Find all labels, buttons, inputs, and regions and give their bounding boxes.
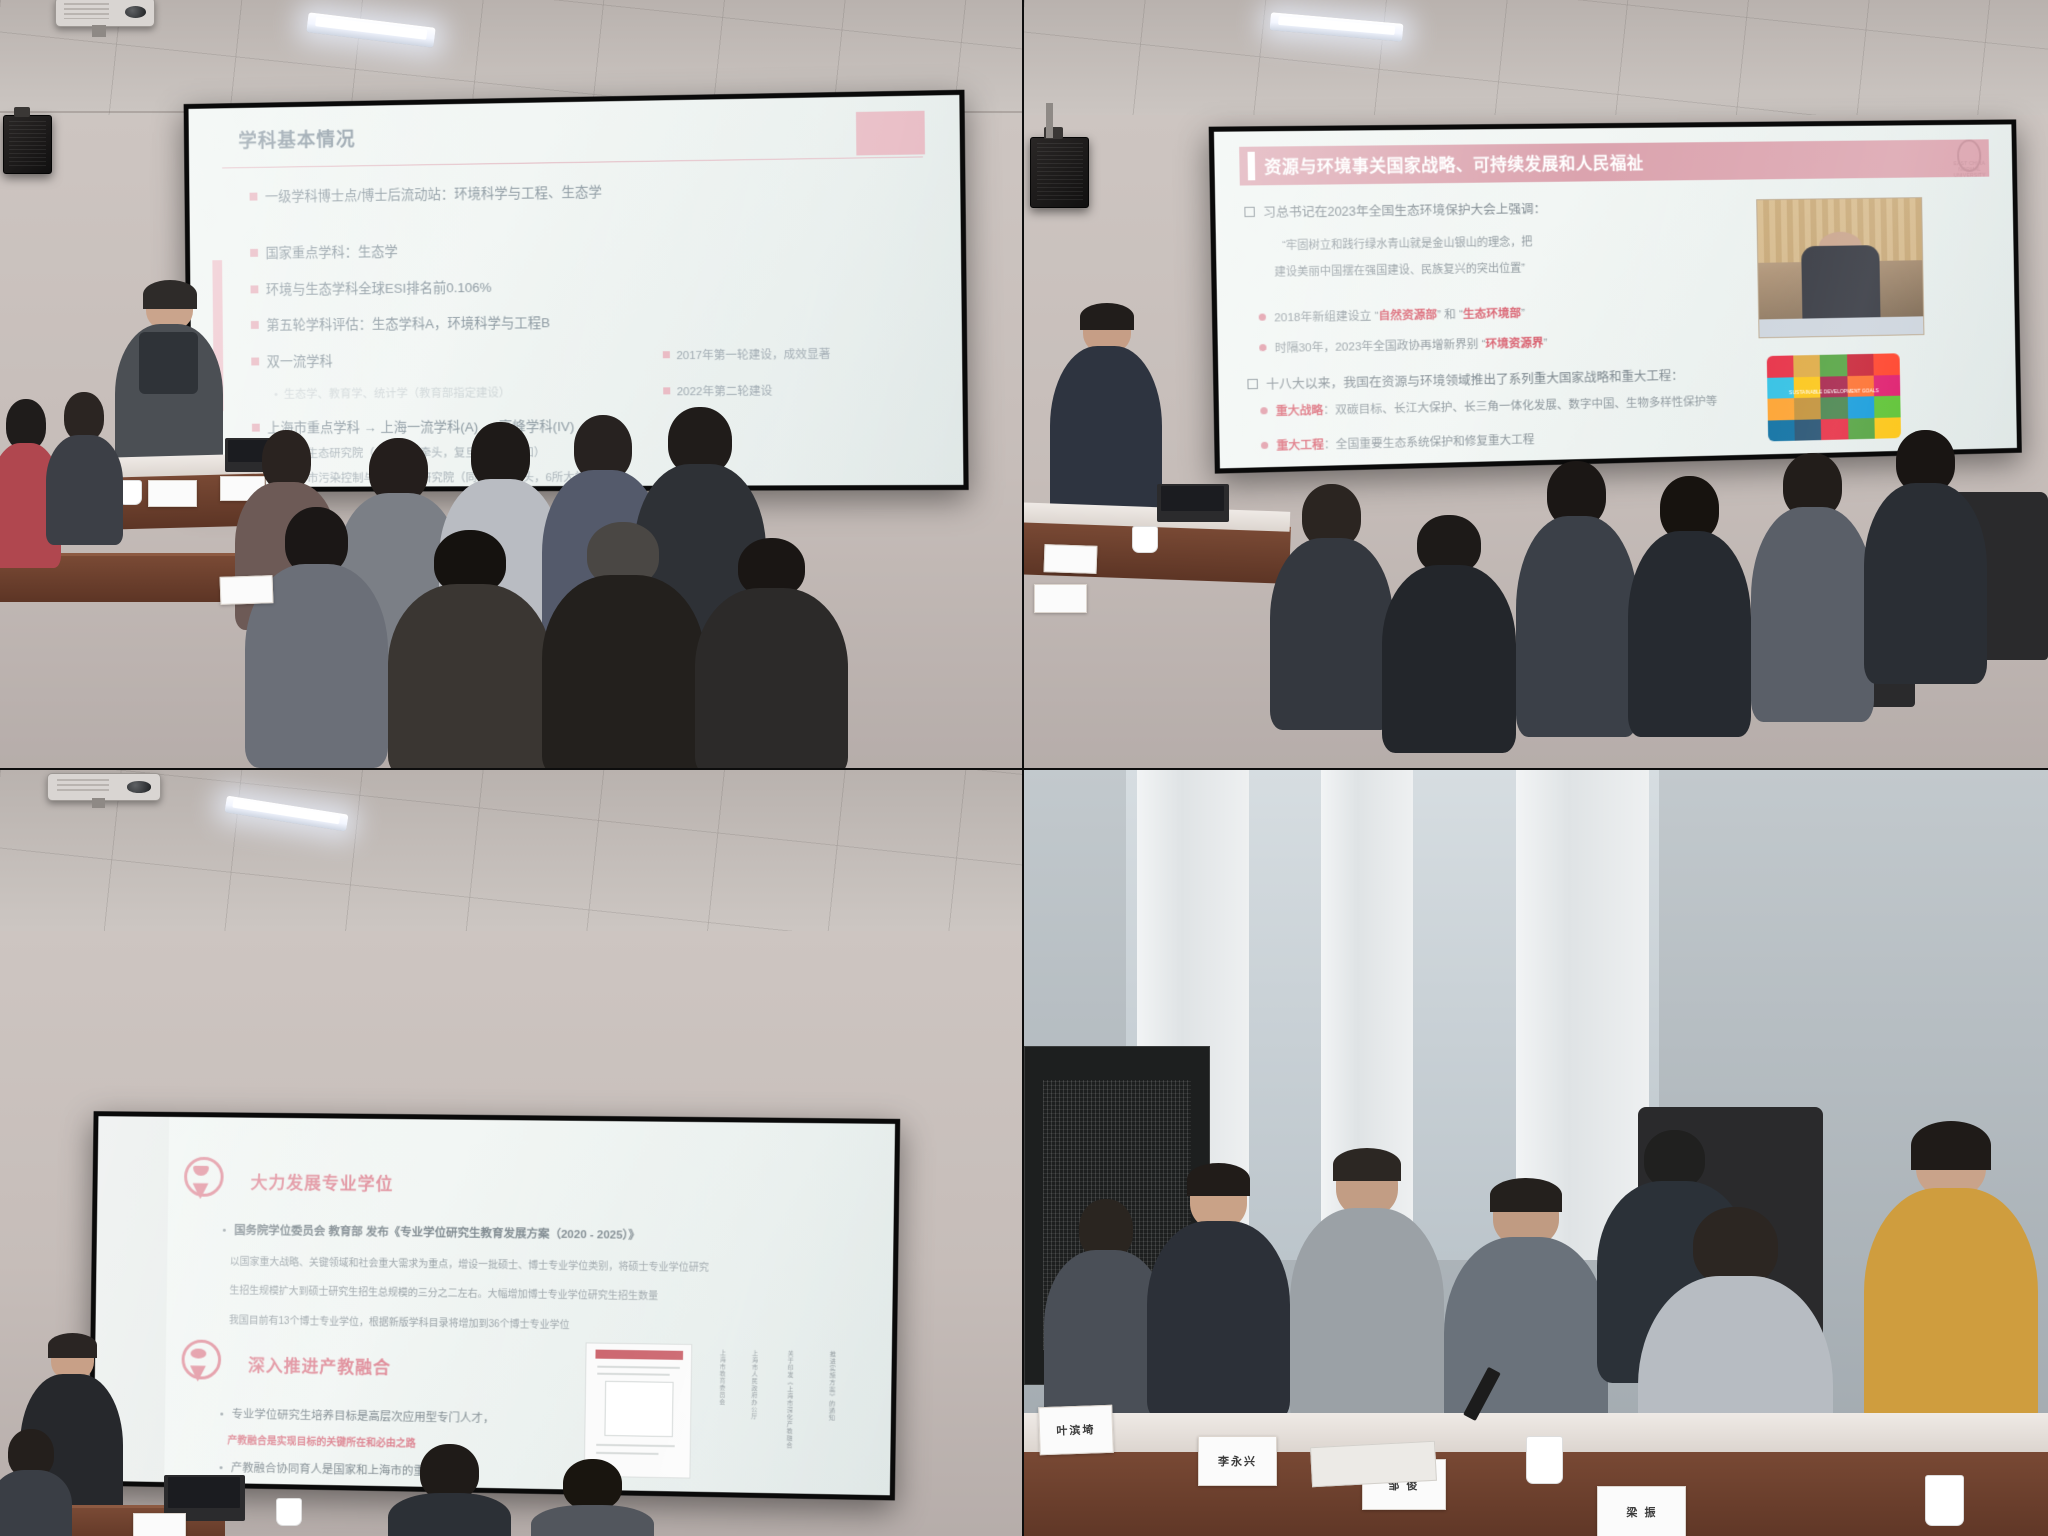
paper-cup	[1132, 526, 1159, 553]
meeting-photo	[1756, 197, 1924, 339]
panel-bottom-right: 叶滨埼 李永兴 邹 俊 梁 振	[1024, 770, 2048, 1536]
attendee	[695, 538, 848, 768]
doc-vcol-0: 上海市教育委员会	[716, 1349, 726, 1405]
slide3-section1-bullet: 国务院学位委员会 教育部 发布《专业学位研究生教育发展方案（2020 - 202…	[222, 1221, 640, 1242]
bullet-box-icon	[1247, 378, 1258, 388]
slide1-accent-tab	[856, 111, 924, 155]
bullet-square-icon	[250, 321, 258, 329]
university-logo-icon: EAST CHINA NORMAL UNIVERSITY	[1942, 134, 1997, 177]
bullet-dot-icon	[1258, 313, 1265, 320]
slide3-section1-body-1: 生招生规模扩大到硕士研究生招生总规模的三分之二左右。大幅增加博士专业学位研究生招…	[229, 1282, 658, 1303]
wall-speaker	[1030, 137, 1089, 208]
attendee	[245, 507, 388, 768]
slide2-section2: 十八大以来，我国在资源与环境领域推出了系列重大国家战略和重大工程：	[1265, 368, 1683, 391]
panel-top-right: 资源与环境事关国家战略、可持续发展和人民福祉 EAST CHINA NORMAL…	[1024, 0, 2048, 768]
photo-collage: 学科基本情况 一级学科博士点/博士后流动站：环境科学与工程、生态学 国家重点学科…	[0, 0, 2048, 1536]
ceiling-projector	[55, 0, 155, 27]
nameplate	[133, 1513, 186, 1536]
bullet-square-icon	[249, 192, 257, 200]
slide2-section1: 习总书记在2023年全国生态环境保护大会上强调：	[1262, 202, 1545, 220]
slide2-project: 重大工程：全国重要生态系统保护和修复重大工程	[1260, 431, 1534, 454]
slide3-section1-body-2: 我国目前有13个博士专业学位，根据新版学科目录将增加到36个博士专业学位	[229, 1311, 570, 1331]
slide2-dot-bullet-0: 2018年新组建设立 “自然资源部” 和 “生态环境部”	[1258, 305, 1525, 326]
wall-speaker	[3, 115, 52, 174]
nameplate-3: 梁 振	[1597, 1486, 1686, 1536]
bullet-box-icon	[1244, 207, 1255, 217]
paper-cup	[276, 1498, 303, 1526]
slide1-bullet-2: 环境与生态学科全球ESI排名前0.106%	[266, 279, 492, 296]
bullet-square-icon	[251, 357, 259, 365]
nameplate-0: 叶滨埼	[1039, 1404, 1114, 1454]
panel-bottom-left: 大力发展专业学位 国务院学位委员会 教育部 发布《专业学位研究生教育发展方案（2…	[0, 770, 1022, 1536]
attendee	[542, 522, 706, 768]
slide3-section2-bullet-0: 专业学位研究生培养目标是高层次应用型专门人才，	[220, 1406, 495, 1427]
slide3-section1-body-0: 以国家重大战略、关键领域和社会重大需求为重点，增设一批硕士、博士专业学位类别，将…	[230, 1252, 709, 1273]
attendee	[1290, 1153, 1444, 1429]
nameplate	[148, 480, 197, 507]
slide-3: 大力发展专业学位 国务院学位委员会 教育部 发布《专业学位研究生教育发展方案（2…	[93, 1116, 895, 1495]
gear-pin-icon	[181, 1339, 215, 1381]
attendee	[1516, 461, 1639, 737]
ceiling	[1024, 0, 2048, 123]
notebook	[1310, 1441, 1437, 1488]
slide2-dot-bullet-1: 时隔30年，2023年全国政协再增新界别 “环境资源界”	[1259, 334, 1548, 356]
bullet-square-icon	[663, 387, 670, 394]
attendee	[531, 1459, 654, 1536]
paper-cup	[1526, 1436, 1563, 1484]
panel-top-left: 学科基本情况 一级学科博士点/博士后流动站：环境科学与工程、生态学 国家重点学科…	[0, 0, 1022, 768]
slide2-quote-1: 建设美丽中国摆在强国建设、民族复兴的突出位置”	[1274, 260, 1525, 280]
doc-vcol-1: 上海市人民政府办公厅	[748, 1349, 758, 1420]
doc-vcol-3: 推进实施方案》的通知	[826, 1351, 836, 1422]
projection-screen-2: 资源与环境事关国家战略、可持续发展和人民福祉 EAST CHINA NORMAL…	[1208, 119, 2021, 473]
slide1-note-1: 2022年第二轮建设	[676, 386, 772, 399]
attendee	[1628, 476, 1751, 737]
slide3-section2-title: 深入推进产教融合	[248, 1351, 391, 1378]
slide1-bullet-4: 双一流学科	[266, 353, 332, 368]
graduation-pin-icon	[183, 1157, 217, 1199]
slide2-banner: 资源与环境事关国家战略、可持续发展和人民福祉	[1239, 139, 1989, 185]
attendee	[1751, 453, 1874, 722]
laptop	[1157, 484, 1229, 522]
projection-screen-3: 大力发展专业学位 国务院学位委员会 教育部 发布《专业学位研究生教育发展方案（2…	[88, 1111, 900, 1500]
bullet-square-icon	[663, 351, 670, 358]
bullet-dot-icon	[1260, 441, 1267, 448]
attendee	[0, 1429, 72, 1536]
bullet-dot-icon	[1259, 344, 1266, 351]
slide3-section1-title: 大力发展专业学位	[250, 1169, 393, 1195]
slide2-quote-0: “牢固树立和践行绿水青山就是金山银山的理念，把	[1282, 233, 1533, 253]
attendee	[46, 392, 123, 546]
nameplate-1: 李永兴	[1198, 1436, 1277, 1485]
sdg-wheel-icon: SUSTAINABLE DEVELOPMENT GOALS	[1766, 353, 1900, 441]
slide1-bullet-1: 国家重点学科：生态学	[265, 244, 397, 260]
bullet-dot-icon	[1260, 407, 1267, 414]
attendee	[1382, 515, 1515, 753]
paper-cup	[1925, 1475, 1964, 1526]
slide1-title: 学科基本情况	[238, 125, 355, 154]
slide2-banner-title: 资源与环境事关国家战略、可持续发展和人民福祉	[1264, 149, 1644, 177]
nameplate	[1034, 584, 1087, 614]
nameplate	[219, 575, 273, 605]
slide2-strategy: 重大战略：双碳目标、长江大保护、长三角一体化发展、数字中国、生物多样性保护等	[1260, 393, 1717, 420]
attendee	[388, 530, 552, 768]
slide1-bullet-0: 一级学科博士点/博士后流动站：环境科学与工程、生态学	[265, 184, 602, 204]
doc-vertical-text-block: 上海市教育委员会 上海市人民政府办公厅 关于印发《上海市深化产教融合 推进实施方…	[712, 1344, 875, 1480]
bullet-square-icon	[250, 285, 258, 293]
attendee	[1270, 484, 1393, 730]
attendee	[1147, 1168, 1290, 1421]
policy-document-thumbnail	[584, 1342, 692, 1479]
logo-label: EAST CHINA NORMAL UNIVERSITY	[1942, 161, 1996, 179]
doc-vcol-2: 关于印发《上海市深化产教融合	[784, 1350, 795, 1449]
attendee	[388, 1444, 511, 1536]
slide1-subbullet-0: 生态学、教育学、统计学（教育部指定建设）	[274, 384, 510, 401]
slide1-note-0: 2017年第一轮建设，成效显著	[676, 348, 830, 361]
nameplate	[1044, 544, 1098, 574]
slide-2: 资源与环境事关国家战略、可持续发展和人民福祉 EAST CHINA NORMAL…	[1214, 124, 2017, 468]
slide1-divider	[222, 156, 923, 168]
doc-header-band	[595, 1349, 683, 1360]
bullet-square-icon	[250, 249, 258, 257]
attendee	[1864, 1130, 2038, 1436]
slide1-bullet-3: 第五轮学科评估：生态学科A，环境科学与工程B	[266, 315, 550, 333]
attendee	[1864, 430, 1987, 683]
